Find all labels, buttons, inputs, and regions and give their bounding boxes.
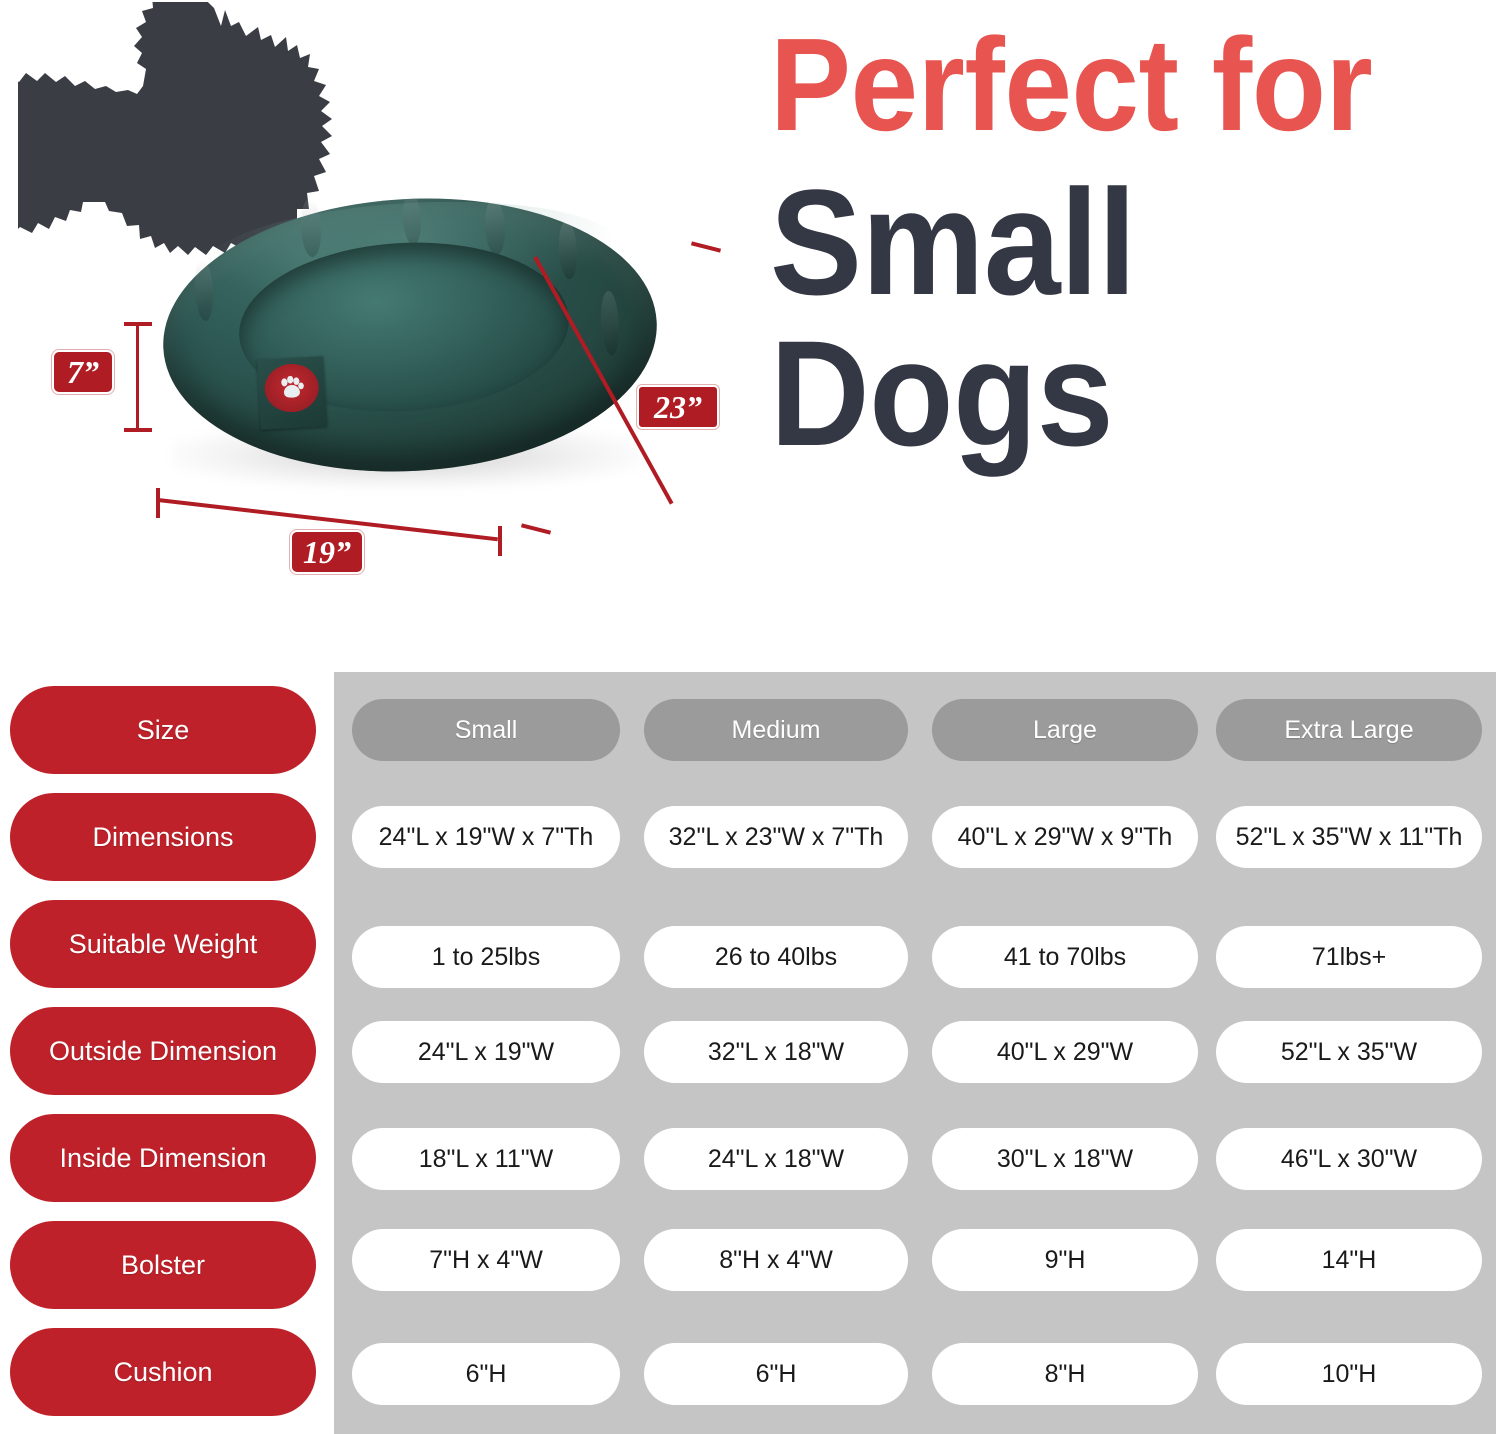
- cell-outside-dimension-small: 24"L x 19"W: [352, 1021, 620, 1083]
- cell-suitable-weight-medium: 26 to 40lbs: [644, 926, 908, 988]
- row-label-inside-dimension: Inside Dimension: [8, 1112, 318, 1204]
- infographic-root: 7” 19” 23” Perfect for Small Dogs Size D…: [0, 0, 1500, 1434]
- callout-label-width: 19”: [290, 530, 364, 574]
- cell-suitable-weight-large: 41 to 70lbs: [932, 926, 1198, 988]
- column-header-small: Small: [352, 699, 620, 761]
- cell-dimensions-extra-large: 52"L x 35"W x 11"Th: [1216, 806, 1482, 868]
- cell-outside-dimension-extra-large: 52"L x 35"W: [1216, 1021, 1482, 1083]
- row-label-size: Size: [8, 684, 318, 776]
- callout-height-7in: 7”: [40, 318, 220, 434]
- cell-inside-dimension-large: 30"L x 18"W: [932, 1128, 1198, 1190]
- headline-line-3: Dogs: [770, 322, 1432, 465]
- row-label-bolster: Bolster: [8, 1219, 318, 1311]
- cell-cushion-large: 8"H: [932, 1343, 1198, 1405]
- cell-bolster-small: 7"H x 4"W: [352, 1229, 620, 1291]
- column-header-large: Large: [932, 699, 1198, 761]
- column-header-extra-large: Extra Large: [1216, 699, 1482, 761]
- headline: Perfect for Small Dogs: [770, 22, 1490, 464]
- cell-cushion-extra-large: 10"H: [1216, 1343, 1482, 1405]
- column-header-medium: Medium: [644, 699, 908, 761]
- headline-line-2: Small: [770, 171, 1432, 314]
- callout-length-23in: 23”: [525, 245, 725, 545]
- row-label-cushion: Cushion: [8, 1326, 318, 1418]
- cell-dimensions-large: 40"L x 29"W x 9"Th: [932, 806, 1198, 868]
- cell-dimensions-medium: 32"L x 23"W x 7"Th: [644, 806, 908, 868]
- cell-outside-dimension-large: 40"L x 29"W: [932, 1021, 1198, 1083]
- cell-inside-dimension-extra-large: 46"L x 30"W: [1216, 1128, 1482, 1190]
- hero-section: 7” 19” 23” Perfect for Small Dogs: [0, 0, 1500, 660]
- cell-dimensions-small: 24"L x 19"W x 7"Th: [352, 806, 620, 868]
- callout-label-length: 23”: [637, 385, 719, 429]
- cell-bolster-medium: 8"H x 4"W: [644, 1229, 908, 1291]
- callout-label-height: 7”: [52, 350, 114, 394]
- paw-print-icon: [278, 375, 305, 400]
- headline-line-1: Perfect for: [770, 22, 1432, 147]
- cell-inside-dimension-medium: 24"L x 18"W: [644, 1128, 908, 1190]
- row-label-dimensions: Dimensions: [8, 791, 318, 883]
- cell-outside-dimension-medium: 32"L x 18"W: [644, 1021, 908, 1083]
- cell-suitable-weight-small: 1 to 25lbs: [352, 926, 620, 988]
- spec-table-label-column: Size Dimensions Suitable Weight Outside …: [8, 684, 318, 1434]
- callout-width-19in: 19”: [150, 486, 550, 576]
- majestic-pet-logo: [263, 363, 320, 414]
- cell-cushion-medium: 6"H: [644, 1343, 908, 1405]
- brand-tag: [257, 356, 327, 430]
- cell-bolster-extra-large: 14"H: [1216, 1229, 1482, 1291]
- cell-inside-dimension-small: 18"L x 11"W: [352, 1128, 620, 1190]
- cell-bolster-large: 9"H: [932, 1229, 1198, 1291]
- row-label-suitable-weight: Suitable Weight: [8, 898, 318, 990]
- row-label-outside-dimension: Outside Dimension: [8, 1005, 318, 1097]
- cell-suitable-weight-extra-large: 71lbs+: [1216, 926, 1482, 988]
- cell-cushion-small: 6"H: [352, 1343, 620, 1405]
